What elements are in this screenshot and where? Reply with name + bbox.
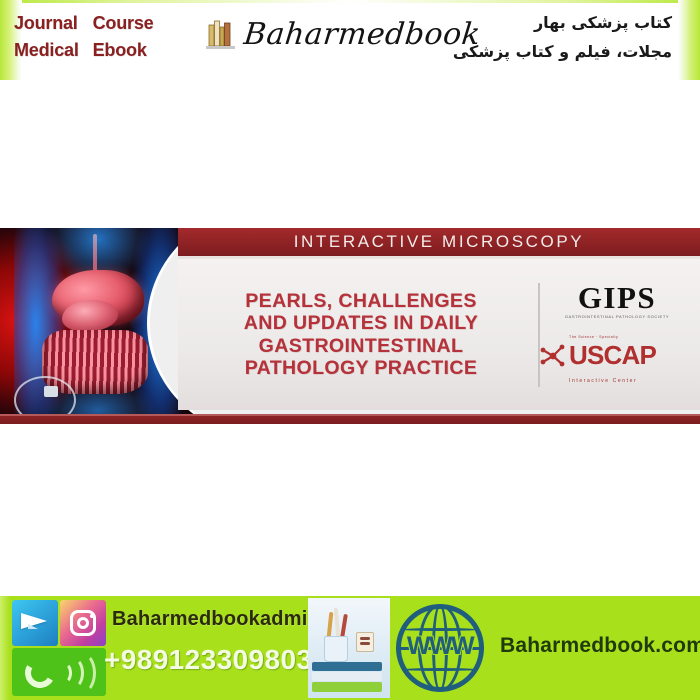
persian-tagline: کتاب پزشکی بهار مجلات، فیلم و کتاب پزشکی (453, 8, 672, 66)
books-icon (205, 18, 237, 52)
header-nav: Journal Course Medical Ebook (14, 10, 153, 63)
header-top-rule (0, 0, 700, 3)
brand-name: Baharmedbook (242, 18, 482, 52)
instagram-lens-glyph (77, 617, 89, 629)
book-1 (312, 662, 382, 671)
title-line-1: PEARLS, CHALLENGES (192, 290, 530, 313)
pencil-cup (324, 636, 348, 662)
title-line-4: PATHOLOGY PRACTICE (192, 357, 530, 380)
nav-item-course[interactable]: Course (93, 10, 154, 36)
conference-title: PEARLS, CHALLENGES AND UPDATES IN DAILY … (178, 290, 538, 380)
notepad-line-2 (360, 642, 370, 645)
admin-handle[interactable]: Baharmedbookadmin (112, 608, 320, 631)
social-icon-grid (12, 600, 108, 696)
telegram-fold-glyph (28, 624, 38, 629)
site-header: Journal Course Medical Ebook Baharmedboo… (0, 0, 700, 80)
brand-logo[interactable]: Baharmedbook (205, 18, 480, 52)
esophagus-shape (93, 234, 97, 274)
website-url[interactable]: Baharmedbook.com (500, 634, 700, 658)
pencil-3 (340, 614, 348, 638)
ribbon-label: INTERACTIVE MICROSCOPY (294, 232, 585, 252)
whatsapp-icon[interactable] (12, 648, 106, 696)
phone-number[interactable]: +989123309803 (104, 644, 312, 676)
nav-item-medical[interactable]: Medical (14, 37, 79, 63)
nav-item-journal[interactable]: Journal (14, 10, 79, 36)
uscap-tagline-top: The Science · Specialty (569, 335, 618, 339)
uscap-tagline-bottom: Interactive Center (569, 378, 637, 384)
globe-icon[interactable]: WWW (392, 600, 488, 696)
title-line-3: GASTROINTESTINAL (192, 335, 530, 358)
interactive-microscopy-ribbon: INTERACTIVE MICROSCOPY (178, 228, 700, 256)
pencil-2 (334, 608, 341, 638)
nav-item-ebook[interactable]: Ebook (93, 37, 154, 63)
organizer-logos: GIPS GASTROINTESTINAL PATHOLOGY SOCIETY (540, 282, 700, 387)
gi-anatomy-image (0, 228, 196, 414)
uscap-wordmark: USCAP (569, 340, 656, 370)
instagram-icon[interactable] (60, 600, 106, 646)
uscap-molecule-icon (540, 343, 566, 369)
banner-body: PEARLS, CHALLENGES AND UPDATES IN DAILY … (178, 259, 700, 410)
globe-parallel-3 (402, 668, 478, 671)
gips-wordmark: GIPS (565, 282, 669, 313)
conference-banner[interactable]: INTERACTIVE MICROSCOPY PEARLS, CHALLENGE… (0, 228, 700, 424)
www-label: WWW (392, 634, 488, 659)
banner-bottom-highlight (0, 414, 700, 416)
gips-subtitle: GASTROINTESTINAL PATHOLOGY SOCIETY (565, 314, 669, 319)
title-line-2: AND UPDATES IN DAILY (192, 312, 530, 335)
gips-logo[interactable]: GIPS GASTROINTESTINAL PATHOLOGY SOCIETY (565, 282, 669, 319)
telegram-icon[interactable] (12, 600, 58, 646)
pencil-1 (327, 612, 334, 638)
footer-left-edge (0, 596, 10, 700)
persian-title: کتاب پزشکی بهار (453, 8, 672, 37)
endoscope-tip (44, 386, 58, 397)
phone-handset-glyph (22, 655, 58, 691)
notepad-line-1 (360, 637, 370, 640)
uscap-logo[interactable]: The Science · Specialty USCAP Interactiv… (540, 325, 694, 387)
book-2 (312, 672, 382, 681)
content-spacer (0, 424, 700, 596)
persian-subtitle: مجلات، فیلم و کتاب پزشکی (453, 37, 672, 66)
signal-wave-3 (68, 652, 96, 694)
books-stationery-image (308, 598, 390, 698)
banner-content: INTERACTIVE MICROSCOPY PEARLS, CHALLENGE… (178, 228, 700, 424)
instagram-dot-glyph (90, 614, 94, 618)
header-green-edge-right (678, 0, 700, 80)
globe-parallel-1 (402, 628, 478, 631)
book-3 (312, 682, 382, 692)
header-spacer (0, 80, 700, 228)
